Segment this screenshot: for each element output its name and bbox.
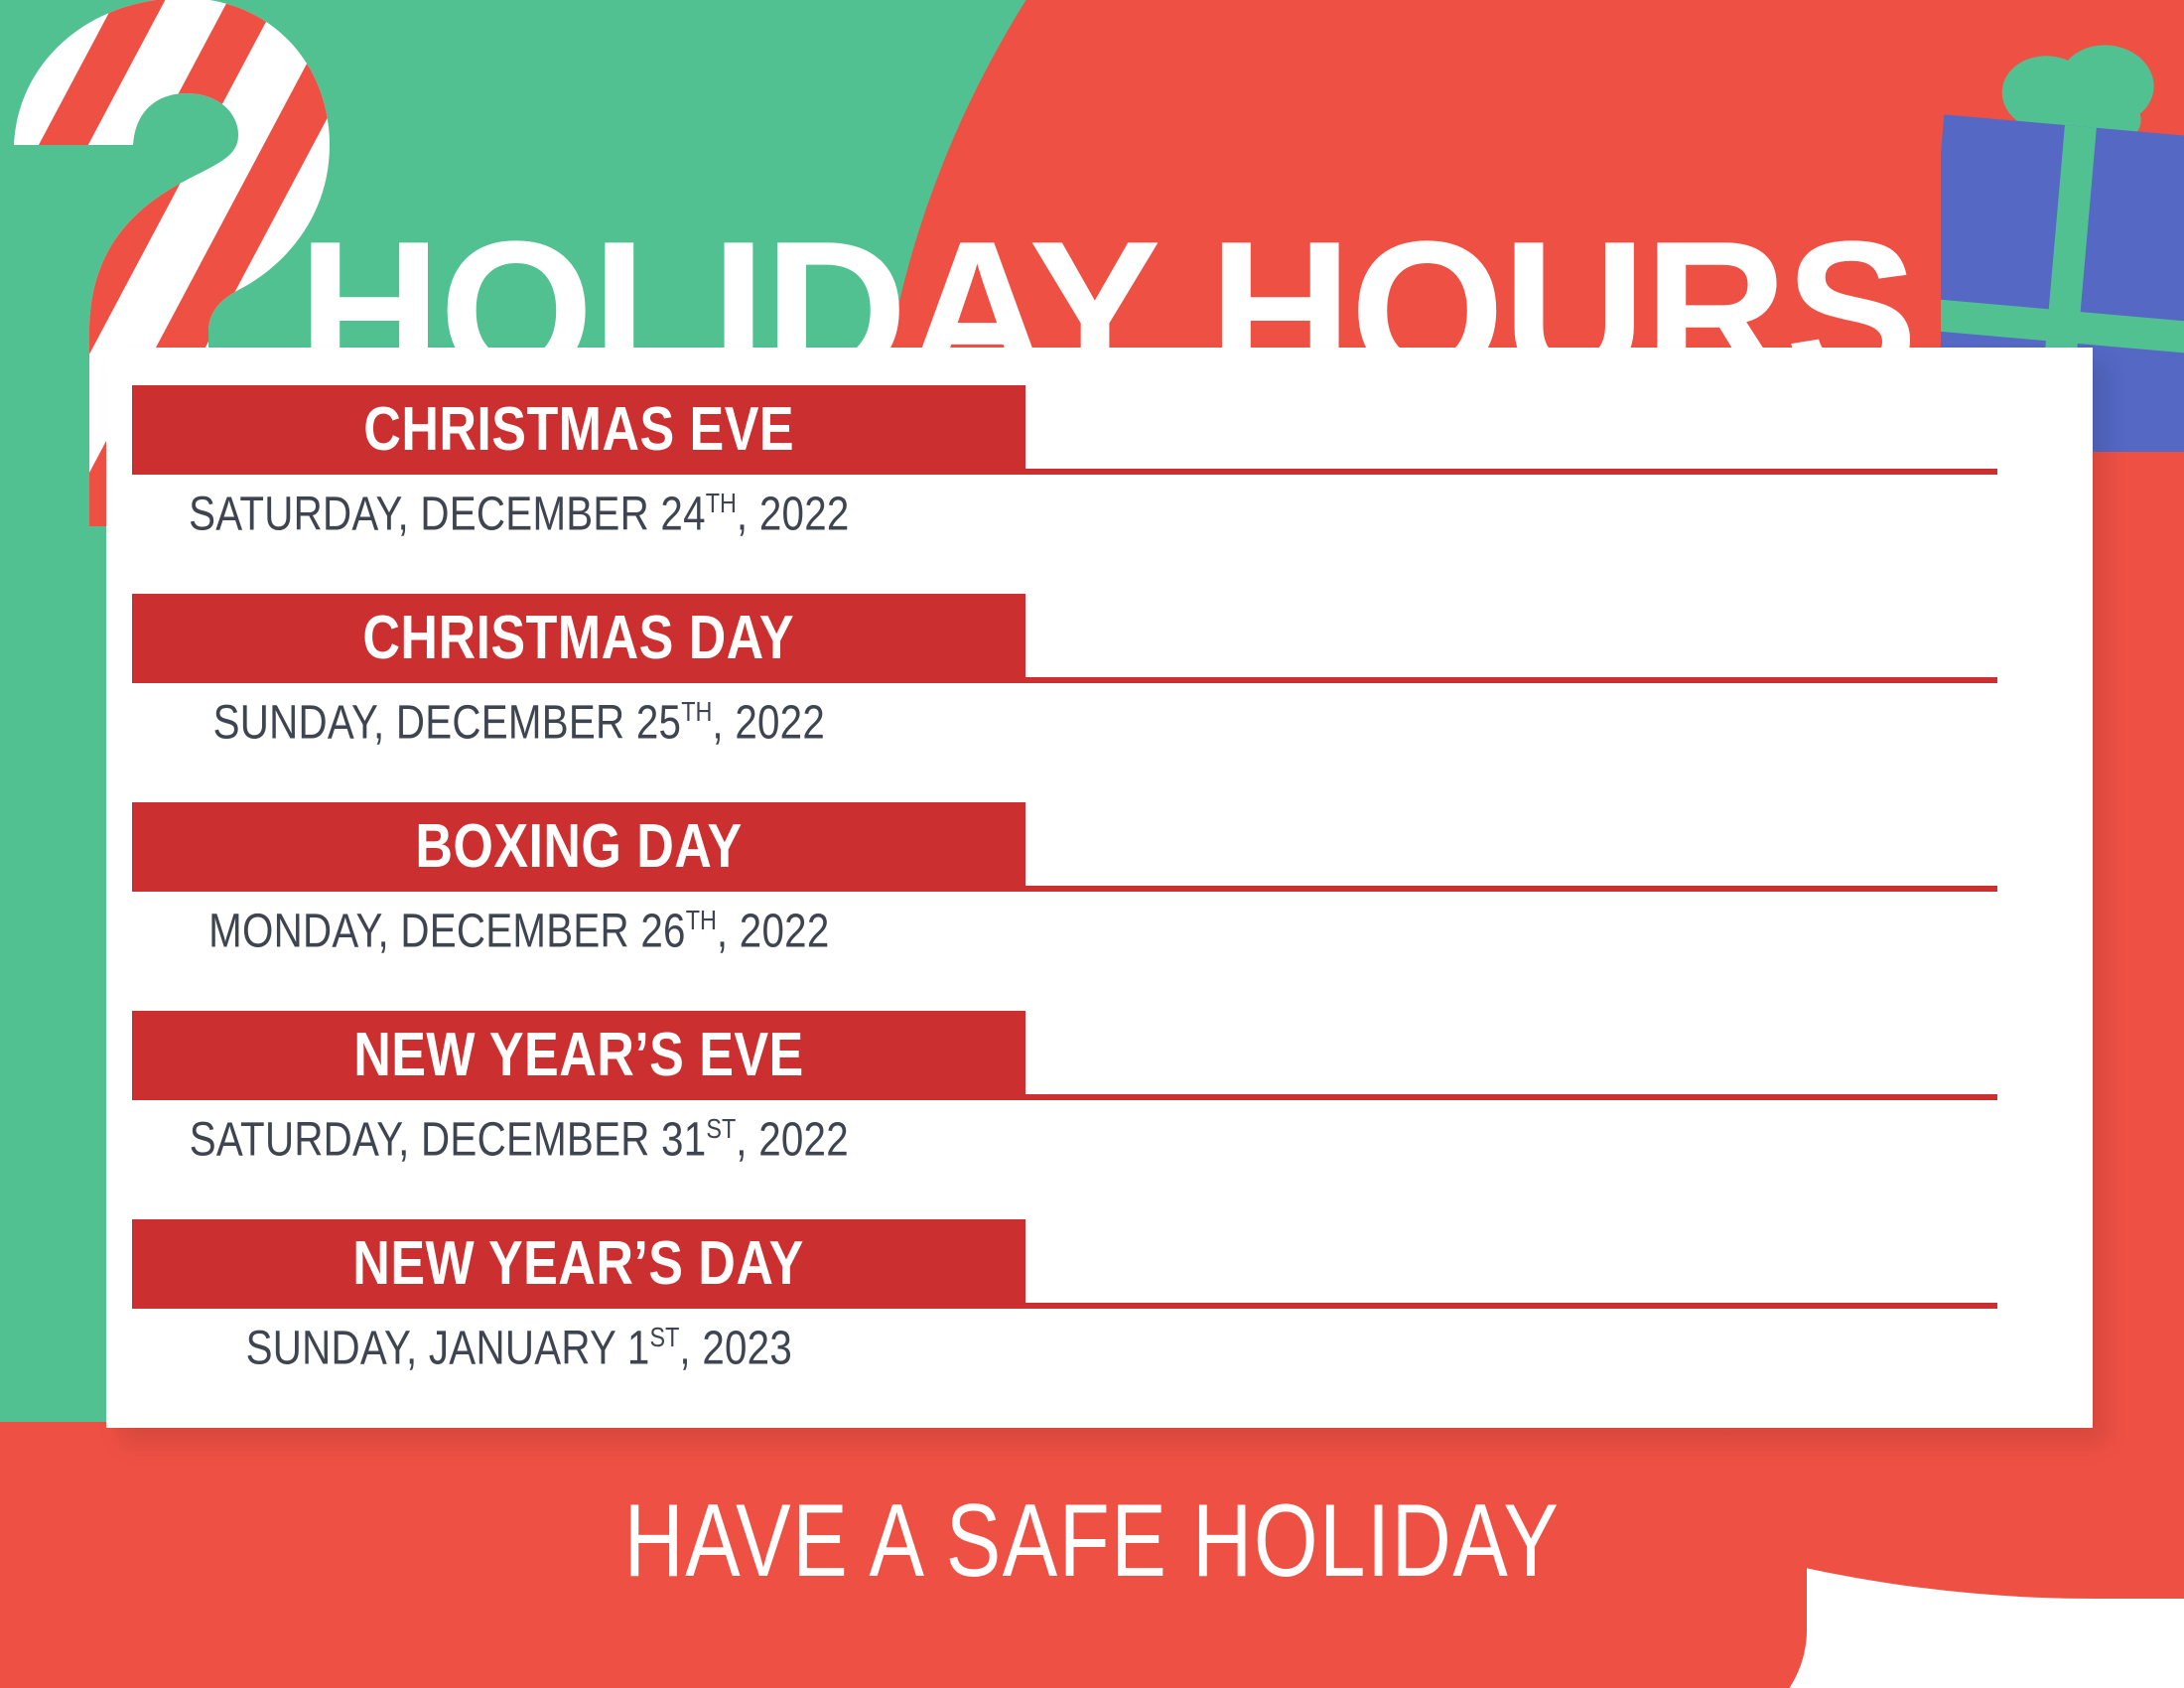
holiday-date-label: SUNDAY, DECEMBER 25TH, 2022 [122,697,894,749]
holiday-date-ordinal: ST [650,1322,680,1352]
hours-rows-container: CHRISTMAS EVE SATURDAY, DECEMBER 24TH, 2… [106,348,2093,1428]
holiday-date-ordinal: ST [706,1113,736,1144]
hours-row: BOXING DAY MONDAY, DECEMBER 26TH, 2022 [106,802,2093,957]
holiday-name-label: BOXING DAY [415,816,742,878]
hours-row: CHRISTMAS DAY SUNDAY, DECEMBER 25TH, 202… [106,594,2093,749]
holiday-name-band: NEW YEAR’S DAY [132,1219,1025,1309]
hours-row: NEW YEAR’S EVE SATURDAY, DECEMBER 31ST, … [106,1011,2093,1166]
holiday-date-prefix: SUNDAY, DECEMBER 25 [213,696,682,749]
holiday-name-band: BOXING DAY [132,802,1025,892]
hours-rule-line [1025,469,1997,475]
holiday-name-label: CHRISTMAS EVE [363,399,794,461]
hours-row-bar-wrap: BOXING DAY [106,802,2093,892]
holiday-name-band: NEW YEAR’S EVE [132,1011,1025,1100]
holiday-date-label: SATURDAY, DECEMBER 31ST, 2022 [122,1114,894,1166]
holiday-date-prefix: MONDAY, DECEMBER 26 [208,905,686,957]
holiday-date-suffix: , 2022 [737,488,850,540]
holiday-date-label: SATURDAY, DECEMBER 24TH, 2022 [122,489,894,540]
holiday-date-ordinal: TH [706,488,737,518]
holiday-name-band: CHRISTMAS EVE [132,385,1025,475]
hours-row-bar-wrap: CHRISTMAS DAY [106,594,2093,683]
holiday-date-label: SUNDAY, JANUARY 1ST, 2023 [122,1323,894,1374]
hours-row: NEW YEAR’S DAY SUNDAY, JANUARY 1ST, 2023 [106,1219,2093,1374]
holiday-name-label: NEW YEAR’S EVE [353,1025,803,1086]
hours-card: CHRISTMAS EVE SATURDAY, DECEMBER 24TH, 2… [106,348,2093,1428]
hours-row: CHRISTMAS EVE SATURDAY, DECEMBER 24TH, 2… [106,385,2093,540]
footer-message: HAVE A SAFE HOLIDAY [218,1489,1966,1593]
holiday-date-prefix: SATURDAY, DECEMBER 31 [190,1113,707,1166]
holiday-date-ordinal: TH [686,905,717,935]
holiday-name-label: CHRISTMAS DAY [363,608,795,669]
holiday-name-label: NEW YEAR’S DAY [353,1233,804,1295]
holiday-date-suffix: , 2023 [679,1322,792,1374]
holiday-date-prefix: SUNDAY, JANUARY 1 [246,1322,650,1374]
holiday-date-ordinal: TH [681,696,712,727]
hours-row-bar-wrap: CHRISTMAS EVE [106,385,2093,475]
holiday-name-band: CHRISTMAS DAY [132,594,1025,683]
holiday-date-suffix: , 2022 [712,696,825,749]
hours-rule-line [1025,1094,1997,1100]
hours-row-bar-wrap: NEW YEAR’S EVE [106,1011,2093,1100]
holiday-date-suffix: , 2022 [717,905,830,957]
hours-rule-line [1025,1303,1997,1309]
holiday-date-suffix: , 2022 [736,1113,849,1166]
holiday-date-label: MONDAY, DECEMBER 26TH, 2022 [122,906,894,957]
hours-rule-line [1025,677,1997,683]
holiday-hours-poster: HOLIDAY HOURS CHRISTMAS EVE SATURDAY, DE… [0,0,2184,1688]
hours-row-bar-wrap: NEW YEAR’S DAY [106,1219,2093,1309]
hours-rule-line [1025,886,1997,892]
holiday-date-prefix: SATURDAY, DECEMBER 24 [189,488,706,540]
